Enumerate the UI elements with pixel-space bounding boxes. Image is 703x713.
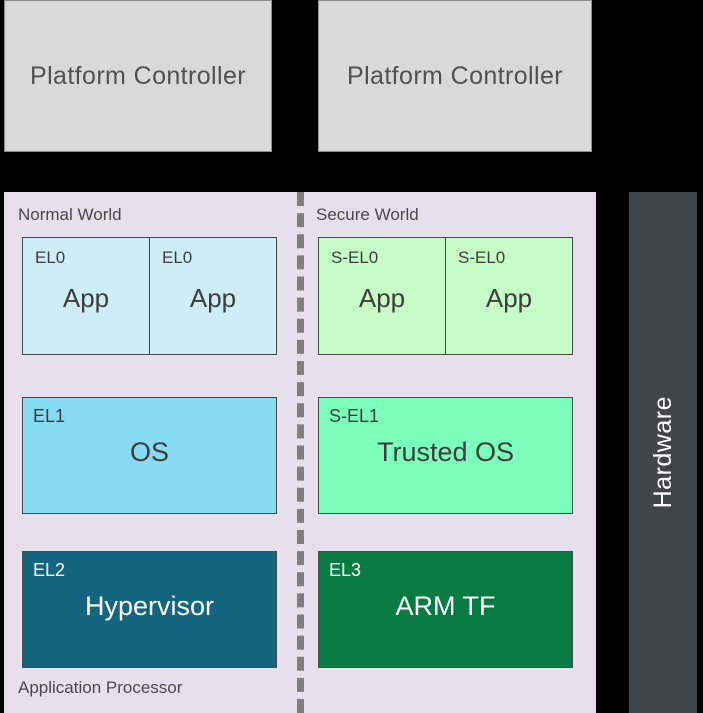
layer-box-sel1-trusted-os: S-EL1 Trusted OS bbox=[318, 397, 573, 514]
exception-level-label: S-EL0 bbox=[458, 248, 505, 268]
layer-title: OS bbox=[23, 436, 276, 467]
application-processor-caption: Application Processor bbox=[18, 678, 182, 698]
hardware-bar: Hardware bbox=[629, 192, 697, 713]
layer-box-el0-app-2: EL0 App bbox=[149, 237, 277, 355]
exception-level-label: S-EL0 bbox=[331, 248, 378, 268]
layer-box-el0-app-1: EL0 App bbox=[22, 237, 150, 355]
layer-title: App bbox=[319, 283, 445, 314]
exception-level-label: EL0 bbox=[35, 248, 65, 268]
architecture-diagram: Platform Controller Platform Controller … bbox=[0, 0, 703, 713]
layer-title: Trusted OS bbox=[319, 436, 572, 467]
exception-level-label: S-EL1 bbox=[329, 406, 379, 427]
platform-controller-label: Platform Controller bbox=[30, 62, 246, 91]
hardware-label: Hardware bbox=[649, 396, 678, 508]
layer-box-el2-hypervisor: EL2 Hypervisor bbox=[22, 551, 277, 668]
platform-controller-box-right: Platform Controller bbox=[318, 0, 592, 152]
secure-world-label: Secure World bbox=[316, 205, 419, 225]
exception-level-label: EL0 bbox=[162, 248, 192, 268]
layer-title: App bbox=[446, 283, 572, 314]
normal-world-label: Normal World bbox=[18, 205, 122, 225]
layer-title: ARM TF bbox=[319, 590, 572, 621]
platform-controller-label: Platform Controller bbox=[347, 62, 563, 91]
layer-box-el1-os: EL1 OS bbox=[22, 397, 277, 514]
layer-title: App bbox=[23, 283, 149, 314]
exception-level-label: EL3 bbox=[329, 560, 361, 581]
exception-level-label: EL2 bbox=[33, 560, 65, 581]
layer-box-sel0-app-1: S-EL0 App bbox=[318, 237, 446, 355]
layer-title: App bbox=[150, 283, 276, 314]
layer-box-sel0-app-2: S-EL0 App bbox=[445, 237, 573, 355]
exception-level-label: EL1 bbox=[33, 406, 65, 427]
world-divider-dashed-line bbox=[297, 192, 304, 713]
platform-controller-box-left: Platform Controller bbox=[4, 0, 272, 152]
layer-box-el3-arm-tf: EL3 ARM TF bbox=[318, 551, 573, 668]
layer-title: Hypervisor bbox=[23, 590, 276, 621]
